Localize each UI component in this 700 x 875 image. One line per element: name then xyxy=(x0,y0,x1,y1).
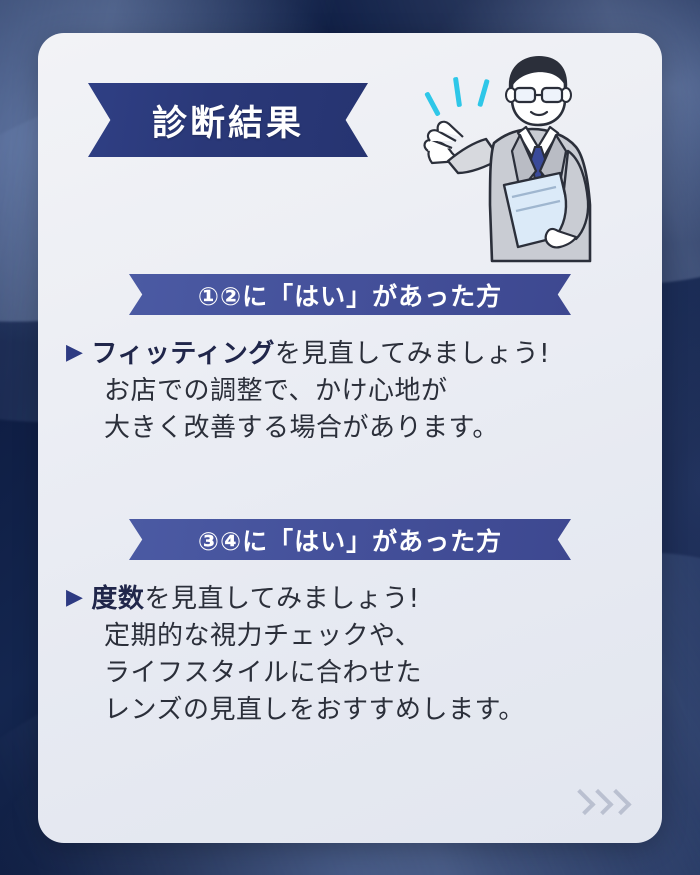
body-line-lead: 度数 xyxy=(91,584,144,614)
body-line-rest: レンズの見直しをおすすめします。 xyxy=(104,692,525,729)
body-line: 定期的な視力チェックや、 xyxy=(66,618,611,655)
body-line-rest: 大きく改善する場合があります。 xyxy=(104,410,499,447)
person-presenting-icon xyxy=(408,55,623,265)
section-body-2: ▶ 度数を見直してみましょう! 定期的な視力チェックや、 ライフスタイルに合わせ… xyxy=(66,581,611,729)
body-line-rest: を見直してみましょう! xyxy=(275,339,550,369)
body-line-rest: を見直してみましょう! xyxy=(144,584,419,614)
section-header-1: ①②に「はい」があった方 xyxy=(129,274,571,315)
body-line: ライフスタイルに合わせた xyxy=(66,655,611,692)
triangle-bullet-icon: ▶ xyxy=(66,581,83,614)
title-ribbon-shape: 診断結果 xyxy=(88,83,368,157)
person-illustration-svg xyxy=(408,55,623,265)
title-ribbon: 診断結果 xyxy=(88,83,368,157)
section-body-1: ▶ フィッティングを見直してみましょう! お店での調整で、かけ心地が 大きく改善… xyxy=(66,336,611,447)
body-line-lead: フィッティング xyxy=(91,339,274,369)
section-header-1-label: ①②に「はい」があった方 xyxy=(198,277,502,313)
page-title: 診断結果 xyxy=(152,95,304,146)
body-line-rest: ライフスタイルに合わせた xyxy=(104,655,422,692)
body-line: お店での調整で、かけ心地が xyxy=(66,373,611,410)
chevron-right-triple-icon[interactable] xyxy=(575,791,626,813)
section-header-2-label: ③④に「はい」があった方 xyxy=(198,522,502,558)
body-line-rest: お店での調整で、かけ心地が xyxy=(104,373,447,410)
slide-canvas: 診断結果 xyxy=(0,0,700,875)
body-line: ▶ 度数を見直してみましょう! xyxy=(66,581,611,618)
section-header-2: ③④に「はい」があった方 xyxy=(129,519,571,560)
triangle-bullet-icon: ▶ xyxy=(66,336,83,369)
body-line: レンズの見直しをおすすめします。 xyxy=(66,692,611,729)
body-line-rest: 定期的な視力チェックや、 xyxy=(104,618,421,655)
body-line: ▶ フィッティングを見直してみましょう! xyxy=(66,336,611,373)
body-line: 大きく改善する場合があります。 xyxy=(66,410,611,447)
